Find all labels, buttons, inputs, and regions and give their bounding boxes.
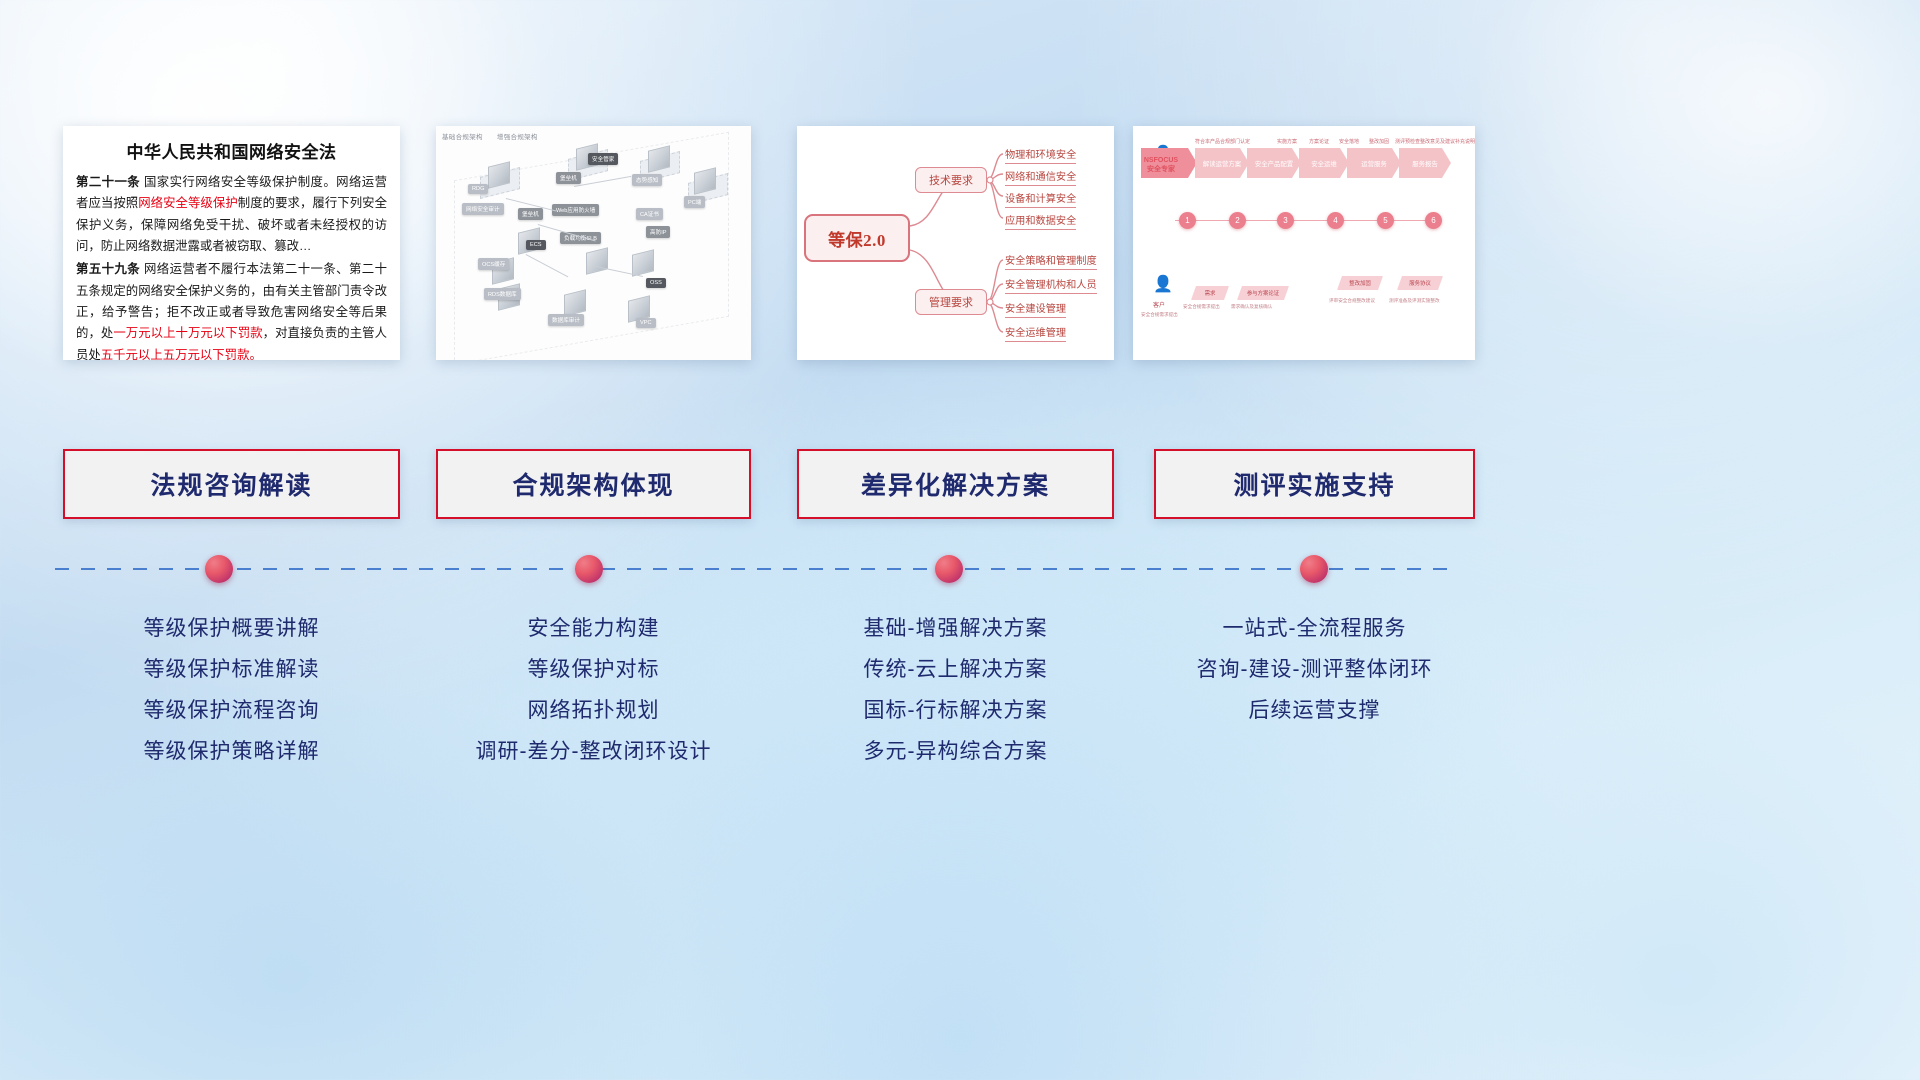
- list-item: 等级保护策略详解: [63, 731, 400, 772]
- image-cards-row: 中华人民共和国网络安全法 第二十一条 国家实行网络安全等级保护制度。网络运营者应…: [0, 126, 1920, 360]
- nsfocus-chevron-2: 安全运维: [1299, 148, 1349, 178]
- nsfocus-chevron-4: 服务报告: [1399, 148, 1451, 178]
- mindmap-leaf-policy-system: 安全策略和管理制度: [1005, 252, 1097, 270]
- infographic-stage: 中华人民共和国网络安全法 第二十一条 国家实行网络安全等级保护制度。网络运营者应…: [0, 0, 1920, 1080]
- nsfocus-step-5: 5: [1377, 212, 1394, 229]
- headline-box-differentiated-solution[interactable]: 差异化解决方案: [797, 449, 1114, 519]
- architecture-node-slb: 负载均衡SLB: [560, 232, 601, 244]
- law-article-59: 第五十九条 网络运营者不履行本法第二十一条、第二十五条规定的网络安全保护义务的，…: [76, 259, 387, 360]
- architecture-node-pc: PC端: [684, 196, 705, 208]
- card-cybersecurity-law: 中华人民共和国网络安全法 第二十一条 国家实行网络安全等级保护制度。网络运营者应…: [63, 126, 400, 360]
- headline-box-compliance-architecture[interactable]: 合规架构体现: [436, 449, 751, 519]
- nsfocus-step-3: 3: [1277, 212, 1294, 229]
- nsfocus-chevron-3: 运营服务: [1347, 148, 1401, 178]
- nsfocus-toptag-5: 测评预检查整改意见及建议补充说明: [1395, 138, 1475, 145]
- customer-label: 客户: [1153, 300, 1165, 309]
- law-article-21-label: 第二十一条: [76, 175, 140, 189]
- architecture-node-waf-left: 堡垒机: [518, 208, 543, 220]
- list-item: 传统-云上解决方案: [797, 649, 1114, 690]
- card-mindmap: 等保2.0 技术要求 物理和环境安全 网络和通信安全 设备和计算安全 应用和数据…: [797, 126, 1114, 360]
- timeline-dashed-line: [55, 568, 1455, 570]
- architecture-node-guanjia: 安全管家: [588, 153, 618, 165]
- law-article-59-highlight-2: 五千元以上五万元以下罚款。: [101, 348, 262, 360]
- architecture-node-ecs: ECS: [526, 240, 546, 250]
- nsfocus-pill-sub-1: 需求确认及复核确认: [1231, 304, 1272, 310]
- architecture-node-db-audit: 数据库审计: [548, 314, 584, 326]
- architecture-node-audit: 网络安全审计: [462, 203, 504, 215]
- architecture-node-situational: 态势感知: [632, 174, 662, 186]
- nsfocus-toptag-4: 整改加固: [1369, 138, 1389, 145]
- nsfocus-pill-3: 服务协议: [1397, 276, 1443, 290]
- architecture-tagbar: 基础合规架构 增强合规架构: [442, 131, 550, 141]
- nsfocus-step-1: 1: [1179, 212, 1196, 229]
- architecture-canvas: 基础合规架构 增强合规架构 RDG 网络安全审计 安全管家 堡垒机 态势感知 P…: [436, 126, 751, 360]
- nsfocus-brand-name: NSFOCUS: [1141, 156, 1181, 165]
- architecture-node-highdefense-ip: 高防IP: [646, 226, 670, 238]
- law-article-59-highlight-1: 一万元以上十万元以下罚款: [113, 326, 262, 340]
- law-text-block: 中华人民共和国网络安全法 第二十一条 国家实行网络安全等级保护制度。网络运营者应…: [63, 126, 400, 360]
- list-item: 等级保护流程咨询: [63, 690, 400, 731]
- detail-column-1: 等级保护概要讲解 等级保护标准解读 等级保护流程咨询 等级保护策略详解: [63, 608, 400, 772]
- list-item: 基础-增强解决方案: [797, 608, 1114, 649]
- timeline-dot-2: [575, 555, 603, 583]
- nsfocus-toptag-2: 方案论证: [1309, 138, 1329, 145]
- headline-row: 法规咨询解读 合规架构体现 差异化解决方案 测评实施支持: [0, 449, 1920, 519]
- detail-column-2: 安全能力构建 等级保护对标 网络拓扑规划 调研-差分-整改闭环设计: [436, 608, 751, 772]
- nsfocus-pill-sub-0: 安全合规需求提出: [1183, 304, 1220, 310]
- list-item: 国标-行标解决方案: [797, 690, 1114, 731]
- nsfocus-pill-0: 需求: [1191, 286, 1229, 300]
- headline-label-2: 合规架构体现: [512, 466, 674, 502]
- mindmap-branch-management: 管理要求: [915, 289, 987, 315]
- nsfocus-brand-label: NSFOCUS 安全专家: [1141, 156, 1181, 175]
- headline-label-1: 法规咨询解读: [150, 466, 312, 502]
- mindmap-leaf-network-comm-security: 网络和通信安全: [1005, 168, 1076, 186]
- architecture-node-waf: Web应用防火墙: [552, 204, 599, 216]
- customer-sublabel: 安全合规需求提出: [1141, 312, 1178, 318]
- architecture-node-ocs: OCS缓存: [478, 258, 509, 270]
- nsfocus-toptag-0: 符合本产品合规部门认定: [1195, 138, 1250, 145]
- mindmap-leaf-app-data-security: 应用和数据安全: [1005, 212, 1076, 230]
- headline-label-3: 差异化解决方案: [861, 466, 1050, 502]
- nsfocus-pill-sub-2: 评审安全合规整改建议: [1329, 298, 1375, 304]
- law-title: 中华人民共和国网络安全法: [76, 138, 387, 163]
- nsfocus-toptag-1: 实施方案: [1277, 138, 1297, 145]
- architecture-node-ca: CA证书: [636, 208, 663, 220]
- list-item: 网络拓扑规划: [436, 690, 751, 731]
- headline-box-assessment-support[interactable]: 测评实施支持: [1154, 449, 1475, 519]
- mindmap-branch-technical: 技术要求: [915, 167, 987, 193]
- nsfocus-step-6: 6: [1425, 212, 1442, 229]
- detail-column-3: 基础-增强解决方案 传统-云上解决方案 国标-行标解决方案 多元-异构综合方案: [797, 608, 1114, 772]
- architecture-node-rds: RDS数据库: [484, 288, 521, 300]
- nsfocus-step-4: 4: [1327, 212, 1344, 229]
- customer-person-icon: 👤: [1153, 274, 1173, 294]
- list-item: 多元-异构综合方案: [797, 731, 1114, 772]
- list-item: 后续运营支撑: [1154, 690, 1475, 731]
- headline-box-regulation-consulting[interactable]: 法规咨询解读: [63, 449, 400, 519]
- timeline-dot-4: [1300, 555, 1328, 583]
- nsfocus-step-2: 2: [1229, 212, 1246, 229]
- list-item: 一站式-全流程服务: [1154, 608, 1475, 649]
- architecture-tag-enhanced: 增强合规架构: [497, 134, 538, 141]
- mindmap-leaf-physical-env-security: 物理和环境安全: [1005, 146, 1076, 164]
- nsfocus-step-rail: [1175, 220, 1441, 221]
- mindmap-root-node: 等保2.0: [804, 214, 910, 262]
- architecture-node-oss: OSS: [646, 278, 666, 288]
- nsfocus-chevron-0: 解读运营方案: [1195, 148, 1249, 178]
- mindmap-leaf-device-compute-security: 设备和计算安全: [1005, 190, 1076, 208]
- architecture-node-vpc: VPC: [636, 318, 656, 328]
- list-item: 等级保护对标: [436, 649, 751, 690]
- list-item: 安全能力构建: [436, 608, 751, 649]
- list-item: 咨询-建设-测评整体闭环: [1154, 649, 1475, 690]
- architecture-node-rdg: RDG: [468, 184, 488, 194]
- law-article-59-label: 第五十九条: [76, 262, 140, 276]
- nsfocus-chevron-1: 安全产品配置: [1247, 148, 1301, 178]
- law-article-21-highlight: 网络安全等级保护: [138, 196, 238, 210]
- timeline-dot-1: [205, 555, 233, 583]
- mindmap-leaf-ops-mgmt: 安全运维管理: [1005, 324, 1066, 342]
- list-item: 等级保护概要讲解: [63, 608, 400, 649]
- headline-label-4: 测评实施支持: [1233, 466, 1395, 502]
- nsfocus-brand-sub: 安全专家: [1141, 165, 1181, 174]
- nsfocus-pill-sub-3: 测评准备及评测实施整改: [1389, 298, 1440, 304]
- law-article-21: 第二十一条 国家实行网络安全等级保护制度。网络运营者应当按照网络安全等级保护制度…: [76, 172, 387, 257]
- architecture-node-bastion: 堡垒机: [556, 172, 581, 184]
- card-architecture-diagram: 基础合规架构 增强合规架构 RDG 网络安全审计 安全管家 堡垒机 态势感知 P…: [436, 126, 751, 360]
- nsfocus-toptag-3: 安全落地: [1339, 138, 1359, 145]
- nsfocus-canvas: 符合本产品合规部门认定 实施方案 方案论证 安全落地 整改加固 测评预检查整改意…: [1133, 126, 1475, 360]
- card-nsfocus-timeline: 符合本产品合规部门认定 实施方案 方案论证 安全落地 整改加固 测评预检查整改意…: [1133, 126, 1475, 360]
- architecture-tag-basic: 基础合规架构: [442, 134, 483, 141]
- list-item: 调研-差分-整改闭环设计: [436, 731, 751, 772]
- nsfocus-pill-2: 整改加固: [1337, 276, 1383, 290]
- mindmap-canvas: 等保2.0 技术要求 物理和环境安全 网络和通信安全 设备和计算安全 应用和数据…: [797, 126, 1114, 360]
- list-item: 等级保护标准解读: [63, 649, 400, 690]
- timeline-dot-3: [935, 555, 963, 583]
- mindmap-leaf-org-personnel: 安全管理机构和人员: [1005, 276, 1097, 294]
- mindmap-leaf-construction-mgmt: 安全建设管理: [1005, 300, 1066, 318]
- nsfocus-pill-1: 参与方案论证: [1237, 286, 1289, 300]
- detail-column-4: 一站式-全流程服务 咨询-建设-测评整体闭环 后续运营支撑: [1154, 608, 1475, 731]
